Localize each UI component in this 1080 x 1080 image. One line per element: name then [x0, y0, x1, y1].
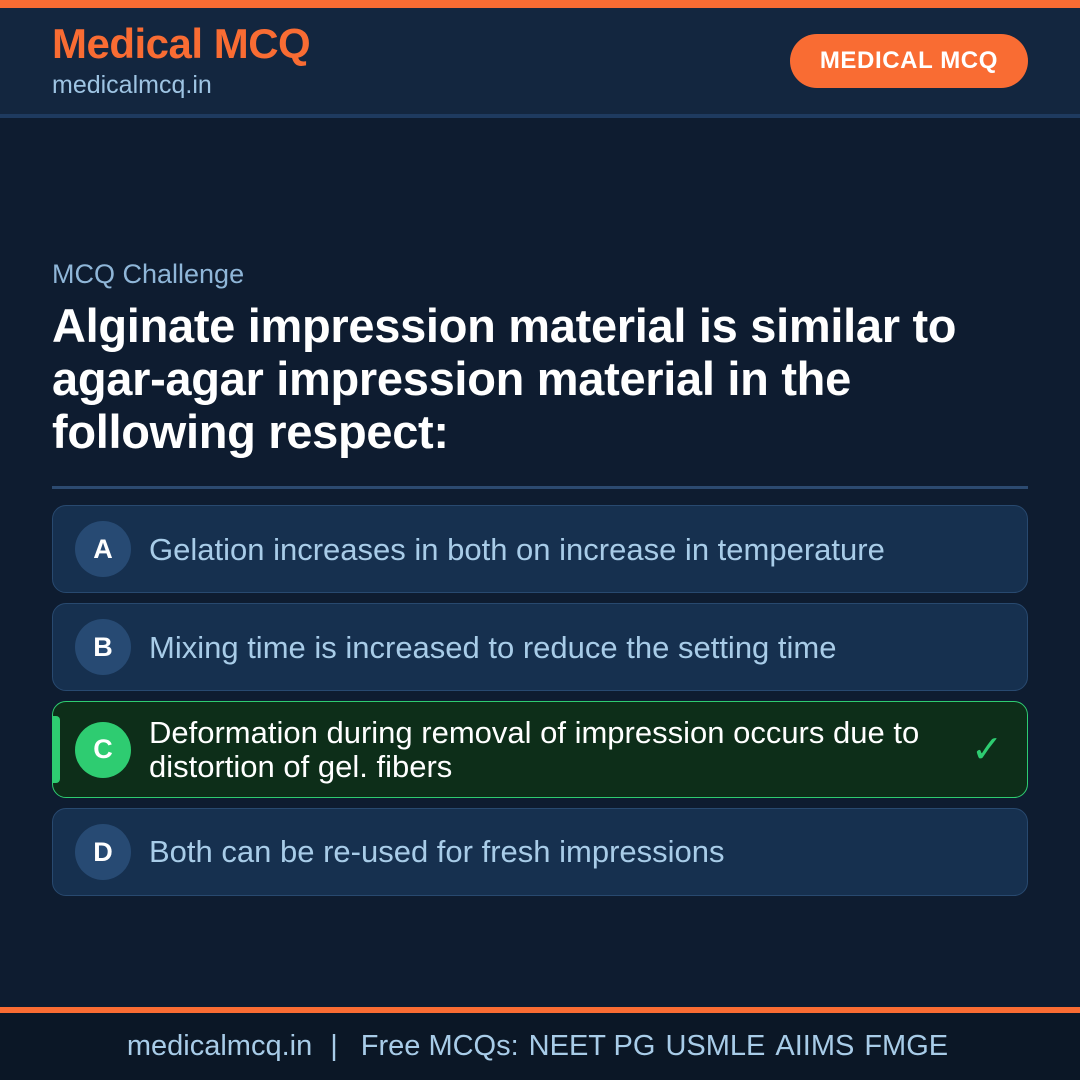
question-text: Alginate impression material is similar …	[52, 300, 1028, 458]
brand-block: Medical MCQ medicalmcq.in	[52, 22, 310, 99]
exam-tag-aiims: AIIMS	[770, 1030, 859, 1062]
eyebrow-label: MCQ Challenge	[52, 258, 1028, 290]
option-text: Gelation increases in both on increase i…	[149, 533, 967, 566]
exam-tag-neet-pg: NEET PG	[524, 1030, 661, 1062]
option-text: Mixing time is increased to reduce the s…	[149, 631, 967, 664]
option-letter-badge: A	[75, 521, 131, 577]
options-list: A Gelation increases in both on increase…	[52, 505, 1028, 896]
correct-accent-bar	[53, 716, 60, 783]
question-divider	[52, 486, 1028, 489]
option-letter-badge: C	[75, 722, 131, 778]
check-icon: ✓	[967, 731, 1007, 769]
option-text: Deformation during removal of impression…	[149, 716, 967, 783]
option-c[interactable]: C Deformation during removal of impressi…	[52, 701, 1028, 798]
brand-subtitle: medicalmcq.in	[52, 70, 310, 100]
option-text: Both can be re-used for fresh impression…	[149, 835, 967, 868]
option-b[interactable]: B Mixing time is increased to reduce the…	[52, 603, 1028, 691]
exam-tag-usmle: USMLE	[660, 1030, 770, 1062]
footer-prefix: Free MCQs:	[356, 1030, 524, 1062]
option-d[interactable]: D Both can be re-used for fresh impressi…	[52, 808, 1028, 896]
brand-title: Medical MCQ	[52, 22, 310, 66]
option-a[interactable]: A Gelation increases in both on increase…	[52, 505, 1028, 593]
brand-badge: MEDICAL MCQ	[790, 34, 1028, 88]
top-spacer	[52, 118, 1028, 258]
top-accent-bar	[0, 0, 1080, 8]
header: Medical MCQ medicalmcq.in MEDICAL MCQ	[0, 8, 1080, 118]
option-letter-badge: D	[75, 824, 131, 880]
mcq-card: Medical MCQ medicalmcq.in MEDICAL MCQ MC…	[0, 0, 1080, 1080]
footer-exams: Free MCQs:NEET PGUSMLEAIIMSFMGE	[356, 1030, 953, 1063]
footer: medicalmcq.in | Free MCQs:NEET PGUSMLEAI…	[0, 1013, 1080, 1080]
exam-tag-fmge: FMGE	[859, 1030, 953, 1062]
main-content: MCQ Challenge Alginate impression materi…	[0, 118, 1080, 1007]
footer-separator: |	[312, 1030, 356, 1063]
option-letter-badge: B	[75, 619, 131, 675]
footer-site[interactable]: medicalmcq.in	[127, 1032, 312, 1061]
